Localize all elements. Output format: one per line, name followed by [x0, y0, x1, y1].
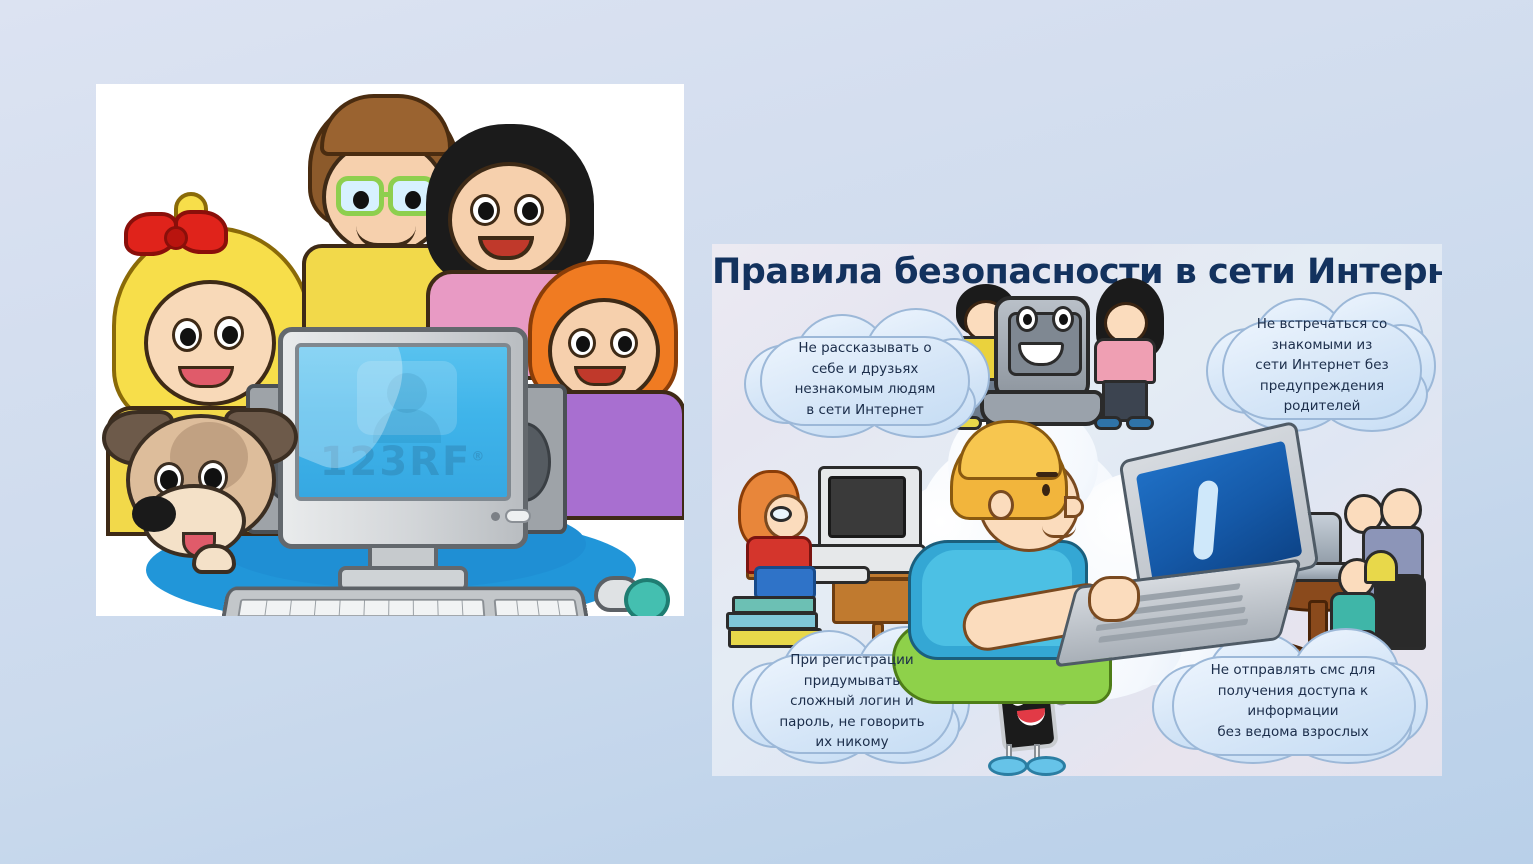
bubble-line: незнакомым людям: [748, 379, 982, 400]
bubble-line: сложный логин и: [740, 691, 964, 712]
crt-monitor-screen: 123RF®: [295, 343, 511, 501]
red-bow-center: [164, 226, 188, 250]
monitor-power-button: [505, 509, 531, 523]
bubble-line: Не рассказывать о: [748, 338, 982, 359]
boy-pupil-right: [405, 191, 421, 209]
bubble-text-bottom-left: При регистрации придумывать сложный логи…: [740, 650, 964, 753]
green-glasses-left-lens: [336, 176, 384, 216]
bubble-line: Не отправлять смс для: [1162, 660, 1424, 681]
boy-hand-on-keyboard: [1088, 576, 1140, 622]
bubble-line: Не встречаться со: [1214, 314, 1430, 335]
woman-pupil-left: [478, 202, 494, 220]
keyboard: [212, 587, 597, 616]
blonde-girl-pupil-right: [222, 326, 238, 344]
orange-girl-pupil-right: [618, 336, 632, 352]
slide-canvas: 123RF®: [0, 0, 1533, 864]
watermark-registered-mark: ®: [471, 450, 486, 465]
bubble-line: их никому: [740, 732, 964, 753]
bubble-line: предупреждения: [1214, 376, 1430, 397]
dog-paw: [192, 544, 236, 574]
phone-shoe-right: [1026, 756, 1066, 776]
woman-face: [448, 162, 570, 278]
bubble-text-top-right: Не встречаться со знакомыми из сети Инте…: [1214, 314, 1430, 417]
keyboard-main-keys: [231, 599, 489, 616]
bubble-line: пароль, не говорить: [740, 712, 964, 733]
boy-eyebrow: [1036, 472, 1058, 477]
bubble-line: без ведома взрослых: [1162, 722, 1424, 743]
boy-eye: [1042, 484, 1050, 496]
blonde-girl-pupil-left: [180, 328, 196, 346]
teal-ball: [624, 578, 670, 616]
bubble-line: При регистрации: [740, 650, 964, 671]
boy-nose: [1064, 496, 1084, 518]
bubble-line: придумывать: [740, 671, 964, 692]
woman-pupil-right: [522, 202, 538, 220]
monitor-power-led: [491, 512, 500, 521]
bubble-rule-do-not-tell-about-yourself[interactable]: Не рассказывать о себе и друзьях незнако…: [738, 306, 992, 438]
orange-girl-pupil-left: [576, 336, 590, 352]
bubble-rule-do-not-meet-strangers[interactable]: Не встречаться со знакомыми из сети Инте…: [1206, 292, 1438, 438]
keyboard-numpad: [494, 599, 586, 616]
green-glasses-bridge: [382, 192, 392, 197]
bubble-line: сети Интернет без: [1214, 355, 1430, 376]
bubble-line: родителей: [1214, 396, 1430, 417]
bubble-text-bottom-right: Не отправлять смс для получения доступа …: [1162, 660, 1424, 742]
boy-hair-top: [320, 94, 452, 156]
bubble-line: в сети Интернет: [748, 400, 982, 421]
left-clipart-image: 123RF®: [96, 84, 684, 616]
bubble-line: получения доступа к: [1162, 681, 1424, 702]
boy-ear: [988, 490, 1014, 520]
laptop-screen-swoosh: [1192, 480, 1218, 559]
internet-safety-poster: Правила безопасности в сети Интернет: [712, 244, 1442, 776]
dog-nose: [132, 496, 176, 532]
bubble-line: себе и друзьях: [748, 359, 982, 380]
phone-smile: [1017, 708, 1047, 727]
boy-pupil-left: [353, 191, 369, 209]
bubble-text-top-left: Не рассказывать о себе и друзьях незнако…: [748, 338, 982, 420]
bubble-line: знакомыми из: [1214, 335, 1430, 356]
phone-shoe-left: [988, 756, 1028, 776]
bubble-line: информации: [1162, 701, 1424, 722]
